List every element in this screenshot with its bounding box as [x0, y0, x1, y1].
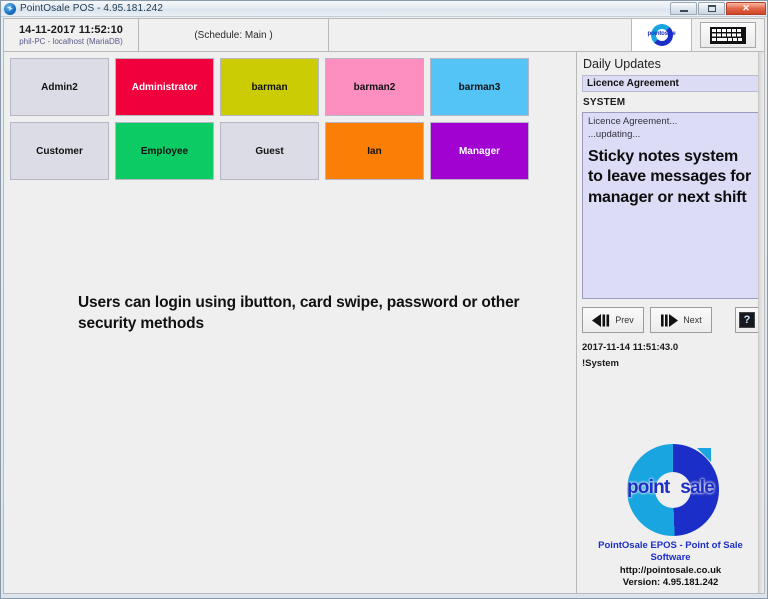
note-body-text: Sticky notes system to leave messages fo… — [588, 147, 753, 208]
user-button-guest[interactable]: Guest — [220, 122, 319, 180]
next-icon — [660, 314, 680, 327]
user-button-admin2[interactable]: Admin2 — [10, 58, 109, 116]
close-button[interactable]: ✕ — [726, 2, 766, 15]
user-button-label: Customer — [36, 146, 83, 157]
footer-line-2: http://pointosale.co.uk — [582, 565, 759, 578]
pointosale-large-logo-icon: pointosale — [609, 444, 733, 540]
branding-block: pointosale PointOsale EPOS - Point of Sa… — [582, 444, 759, 593]
prev-button[interactable]: Prev — [582, 307, 644, 333]
user-button-label: Ian — [367, 146, 381, 157]
user-button-label: Manager — [459, 146, 500, 157]
application-body: 14-11-2017 11:52:10 phil-PC - localhost … — [1, 17, 767, 598]
maximize-icon — [708, 5, 716, 12]
title-bar: PointOsale POS - 4.95.181.242 ✕ — [1, 1, 767, 17]
top-toolbar: 14-11-2017 11:52:10 phil-PC - localhost … — [3, 18, 765, 51]
onscreen-keyboard-cell — [692, 19, 764, 51]
footer-line-3: Version: 4.95.181.242 — [582, 577, 759, 590]
window-controls: ✕ — [670, 2, 766, 15]
note-navigation: Prev Next ? — [582, 307, 759, 333]
close-icon: ✕ — [742, 4, 750, 13]
user-button-label: barman3 — [459, 82, 501, 93]
help-icon: ? — [739, 312, 755, 328]
logo-text: pointosale — [642, 31, 682, 37]
help-button[interactable]: ? — [735, 307, 759, 333]
current-datetime: 14-11-2017 11:52:10 — [19, 24, 123, 36]
panel-scroll-gutter[interactable] — [758, 52, 764, 593]
footer-text: PointOsale EPOS - Point of Sale Software… — [582, 540, 759, 590]
user-button-employee[interactable]: Employee — [115, 122, 214, 180]
keyboard-icon — [710, 27, 746, 44]
minimize-button[interactable] — [670, 2, 697, 15]
pointosale-logo-icon: pointosale — [642, 22, 682, 48]
maximize-button[interactable] — [698, 2, 725, 15]
datetime-panel: 14-11-2017 11:52:10 phil-PC - localhost … — [4, 19, 139, 51]
minimize-icon — [680, 10, 688, 12]
next-button[interactable]: Next — [650, 307, 712, 333]
toolbar-logo-button[interactable]: pointosale — [632, 19, 692, 51]
user-button-barman3[interactable]: barman3 — [430, 58, 529, 116]
main-content: Admin2 Administrator barman barman2 barm… — [3, 51, 765, 594]
user-button-label: barman — [251, 82, 287, 93]
prev-label: Prev — [615, 315, 634, 325]
onscreen-keyboard-button[interactable] — [700, 22, 756, 48]
update-timestamp: 2017-11-14 11:51:43.0 — [582, 342, 759, 353]
update-subject[interactable]: Licence Agreement — [582, 75, 759, 92]
user-button-grid: Admin2 Administrator barman barman2 barm… — [4, 52, 576, 180]
app-logo-icon — [4, 3, 16, 15]
schedule-label: (Schedule: Main ) — [194, 30, 272, 41]
update-source-label: SYSTEM — [583, 97, 759, 108]
logo-word-right: sale — [680, 477, 714, 498]
sticky-note-content[interactable]: Licence Agreement... ...updating... Stic… — [582, 112, 759, 299]
toolbar-spacer — [329, 19, 632, 51]
user-button-label: Admin2 — [41, 82, 78, 93]
logo-word-left: point — [627, 477, 669, 498]
daily-updates-title: Daily Updates — [583, 57, 759, 71]
update-author: !System — [582, 358, 759, 369]
user-button-barman[interactable]: barman — [220, 58, 319, 116]
user-button-label: Employee — [141, 146, 188, 157]
prev-icon — [592, 314, 612, 327]
user-button-label: Guest — [255, 146, 283, 157]
application-window: PointOsale POS - 4.95.181.242 ✕ 14-11-20… — [0, 0, 768, 599]
user-button-manager[interactable]: Manager — [430, 122, 529, 180]
next-label: Next — [683, 315, 702, 325]
footer-line-1: PointOsale EPOS - Point of Sale Software — [582, 540, 759, 565]
schedule-panel[interactable]: (Schedule: Main ) — [139, 19, 329, 51]
window-title: PointOsale POS - 4.95.181.242 — [20, 3, 163, 14]
user-button-label: Administrator — [132, 82, 198, 93]
logo-wordmark: pointosale — [609, 477, 733, 499]
daily-updates-panel: Daily Updates Licence Agreement SYSTEM L… — [577, 52, 764, 593]
user-button-ian[interactable]: Ian — [325, 122, 424, 180]
user-button-customer[interactable]: Customer — [10, 122, 109, 180]
login-hint-text: Users can login using ibutton, card swip… — [78, 292, 548, 335]
logo-arrow — [697, 448, 711, 462]
database-connection: phil-PC - localhost (MariaDB) — [19, 37, 123, 46]
user-button-administrator[interactable]: Administrator — [115, 58, 214, 116]
note-head-line-2: ...updating... — [588, 129, 753, 142]
note-head-line-1: Licence Agreement... — [588, 116, 753, 129]
user-button-label: barman2 — [354, 82, 396, 93]
login-panel: Admin2 Administrator barman barman2 barm… — [4, 52, 577, 593]
user-button-barman2[interactable]: barman2 — [325, 58, 424, 116]
